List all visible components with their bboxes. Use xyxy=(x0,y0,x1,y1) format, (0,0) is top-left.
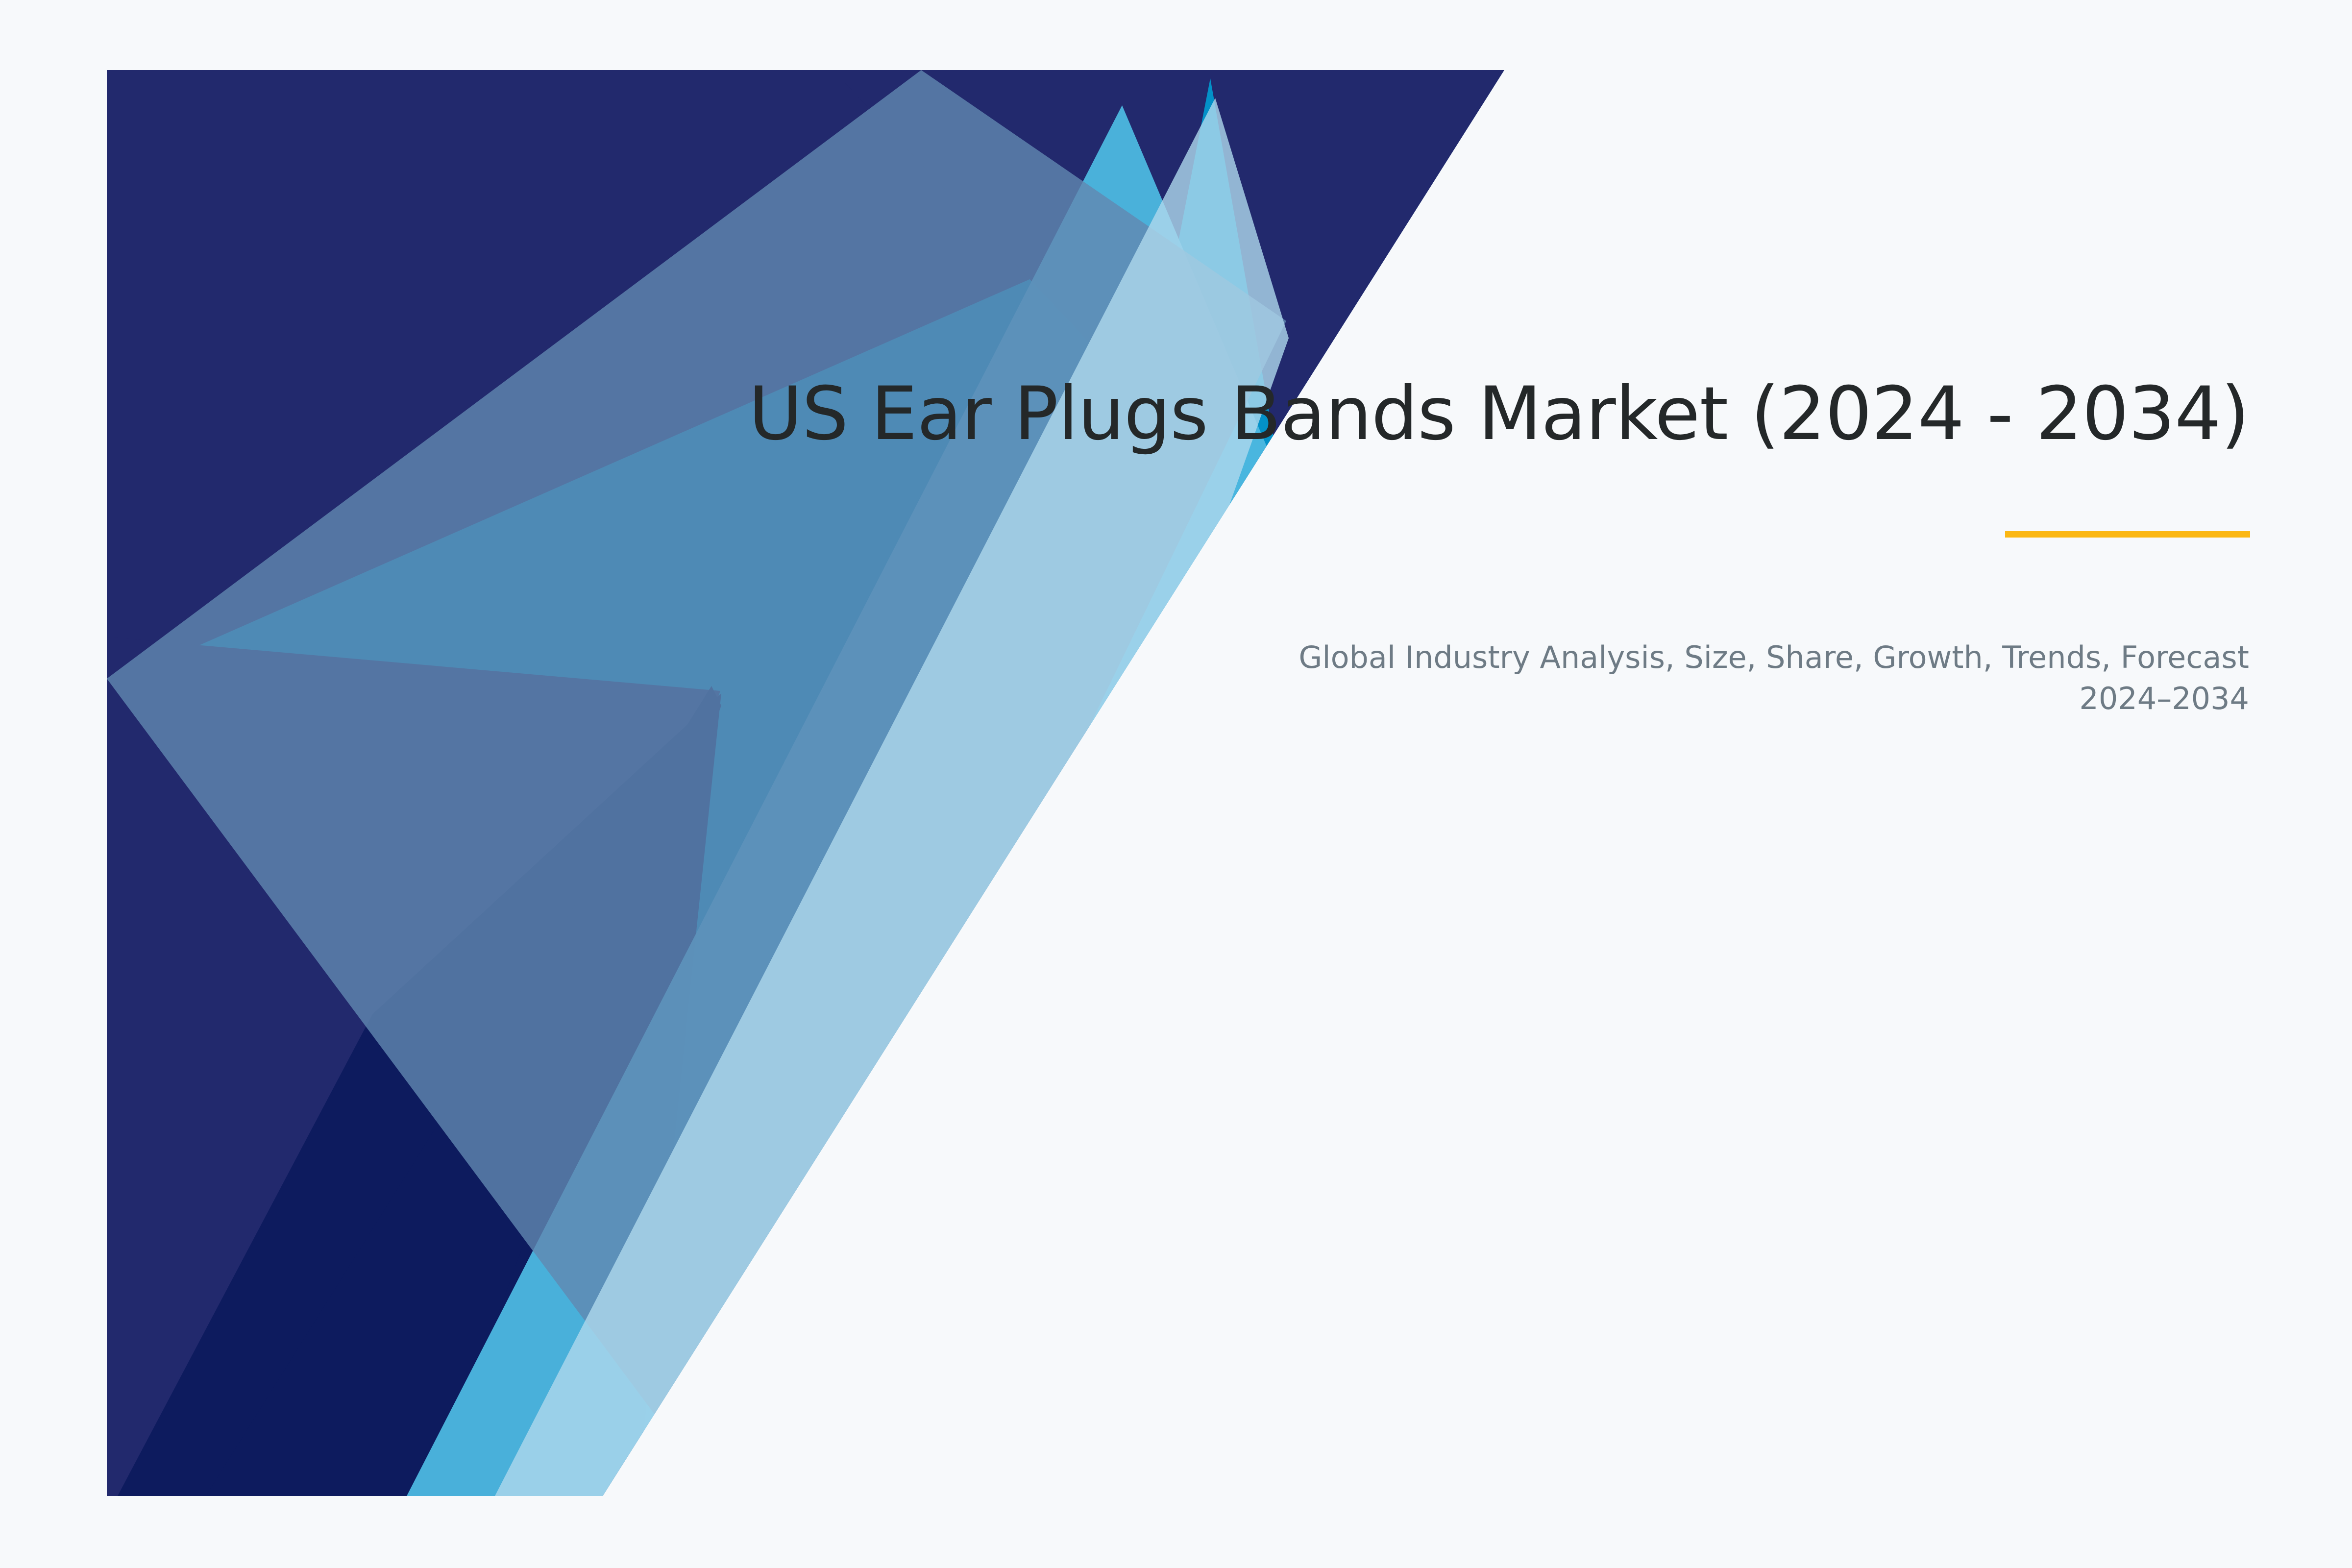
navy-left-column xyxy=(107,637,720,1496)
title-block: US Ear Plugs Bands Market (2024 - 2034) xyxy=(735,372,2249,456)
title-accent-underline xyxy=(2005,531,2250,538)
abstract-polygon-cover-graphic xyxy=(0,0,2352,1568)
sky-blue-band xyxy=(407,105,1286,1496)
page-subtitle: Global Industry Analysis, Size, Share, G… xyxy=(1274,637,2249,719)
navy-upper-right-triangle xyxy=(833,70,1504,539)
page-title: US Ear Plugs Bands Market (2024 - 2034) xyxy=(735,372,2249,456)
report-cover-slide: US Ear Plugs Bands Market (2024 - 2034) … xyxy=(0,0,2352,1568)
subtitle-block: Global Industry Analysis, Size, Share, G… xyxy=(1274,637,2249,719)
slate-blue-overlay-rhombus xyxy=(107,70,1286,1496)
pale-blue-overlay-rhombus xyxy=(495,98,1289,1496)
deep-navy-lower-block xyxy=(118,693,721,1496)
deep-navy-spike xyxy=(206,686,721,1496)
cyan-base-block xyxy=(107,70,1504,1496)
cyan-thin-spike xyxy=(1014,78,1284,1078)
